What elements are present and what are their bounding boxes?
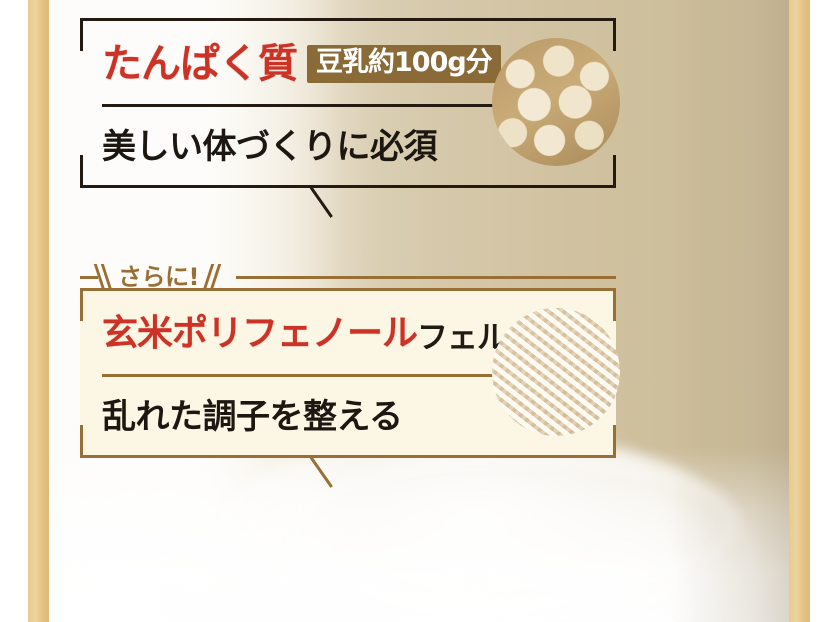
- benefit-card-ferulic-acid: 玄米 ポリフェノール フェルラ酸 乱れた調子を整える: [80, 288, 616, 458]
- corner-bracket-bottom-right: [579, 425, 616, 458]
- protein-headline-row: たんぱく質 豆乳約100g分: [102, 26, 501, 102]
- ribbon-label-text: さらに!: [112, 264, 205, 290]
- ferulic-headline-red: 玄米: [102, 314, 172, 354]
- promotional-banner: たんぱく質 豆乳約100g分 美しい体づくりに必須 さらに!: [0, 0, 828, 622]
- ferulic-subline: 乱れた調子を整える: [102, 398, 402, 436]
- speech-tail-ferulic: [311, 456, 357, 490]
- slash-left-icon: [96, 264, 112, 290]
- protein-headline: たんぱく質: [102, 42, 297, 86]
- card-top-rule: [80, 18, 616, 21]
- gold-bar-left: [28, 0, 49, 622]
- ferulic-subline-row: 乱れた調子を整える: [102, 380, 402, 454]
- corner-bracket-bottom-right: [579, 155, 616, 188]
- ribbon-stub-right: [236, 276, 616, 279]
- speech-tail-protein: [311, 186, 357, 220]
- photo-right-shadow: [670, 0, 790, 622]
- gold-bar-right: [789, 0, 810, 622]
- brown-rice-photo-icon: [492, 308, 620, 436]
- protein-subline-row: 美しい体づくりに必須: [102, 110, 437, 184]
- benefit-card-protein: たんぱく質 豆乳約100g分 美しい体づくりに必須: [80, 18, 616, 188]
- ferulic-headline-red-small: ポリフェノール: [172, 314, 417, 354]
- card-top-rule: [80, 288, 616, 291]
- protein-subline: 美しい体づくりに必須: [102, 128, 437, 166]
- protein-badge: 豆乳約100g分: [307, 45, 501, 83]
- slash-right-icon: [205, 264, 221, 290]
- soybeans-photo-icon: [492, 38, 620, 166]
